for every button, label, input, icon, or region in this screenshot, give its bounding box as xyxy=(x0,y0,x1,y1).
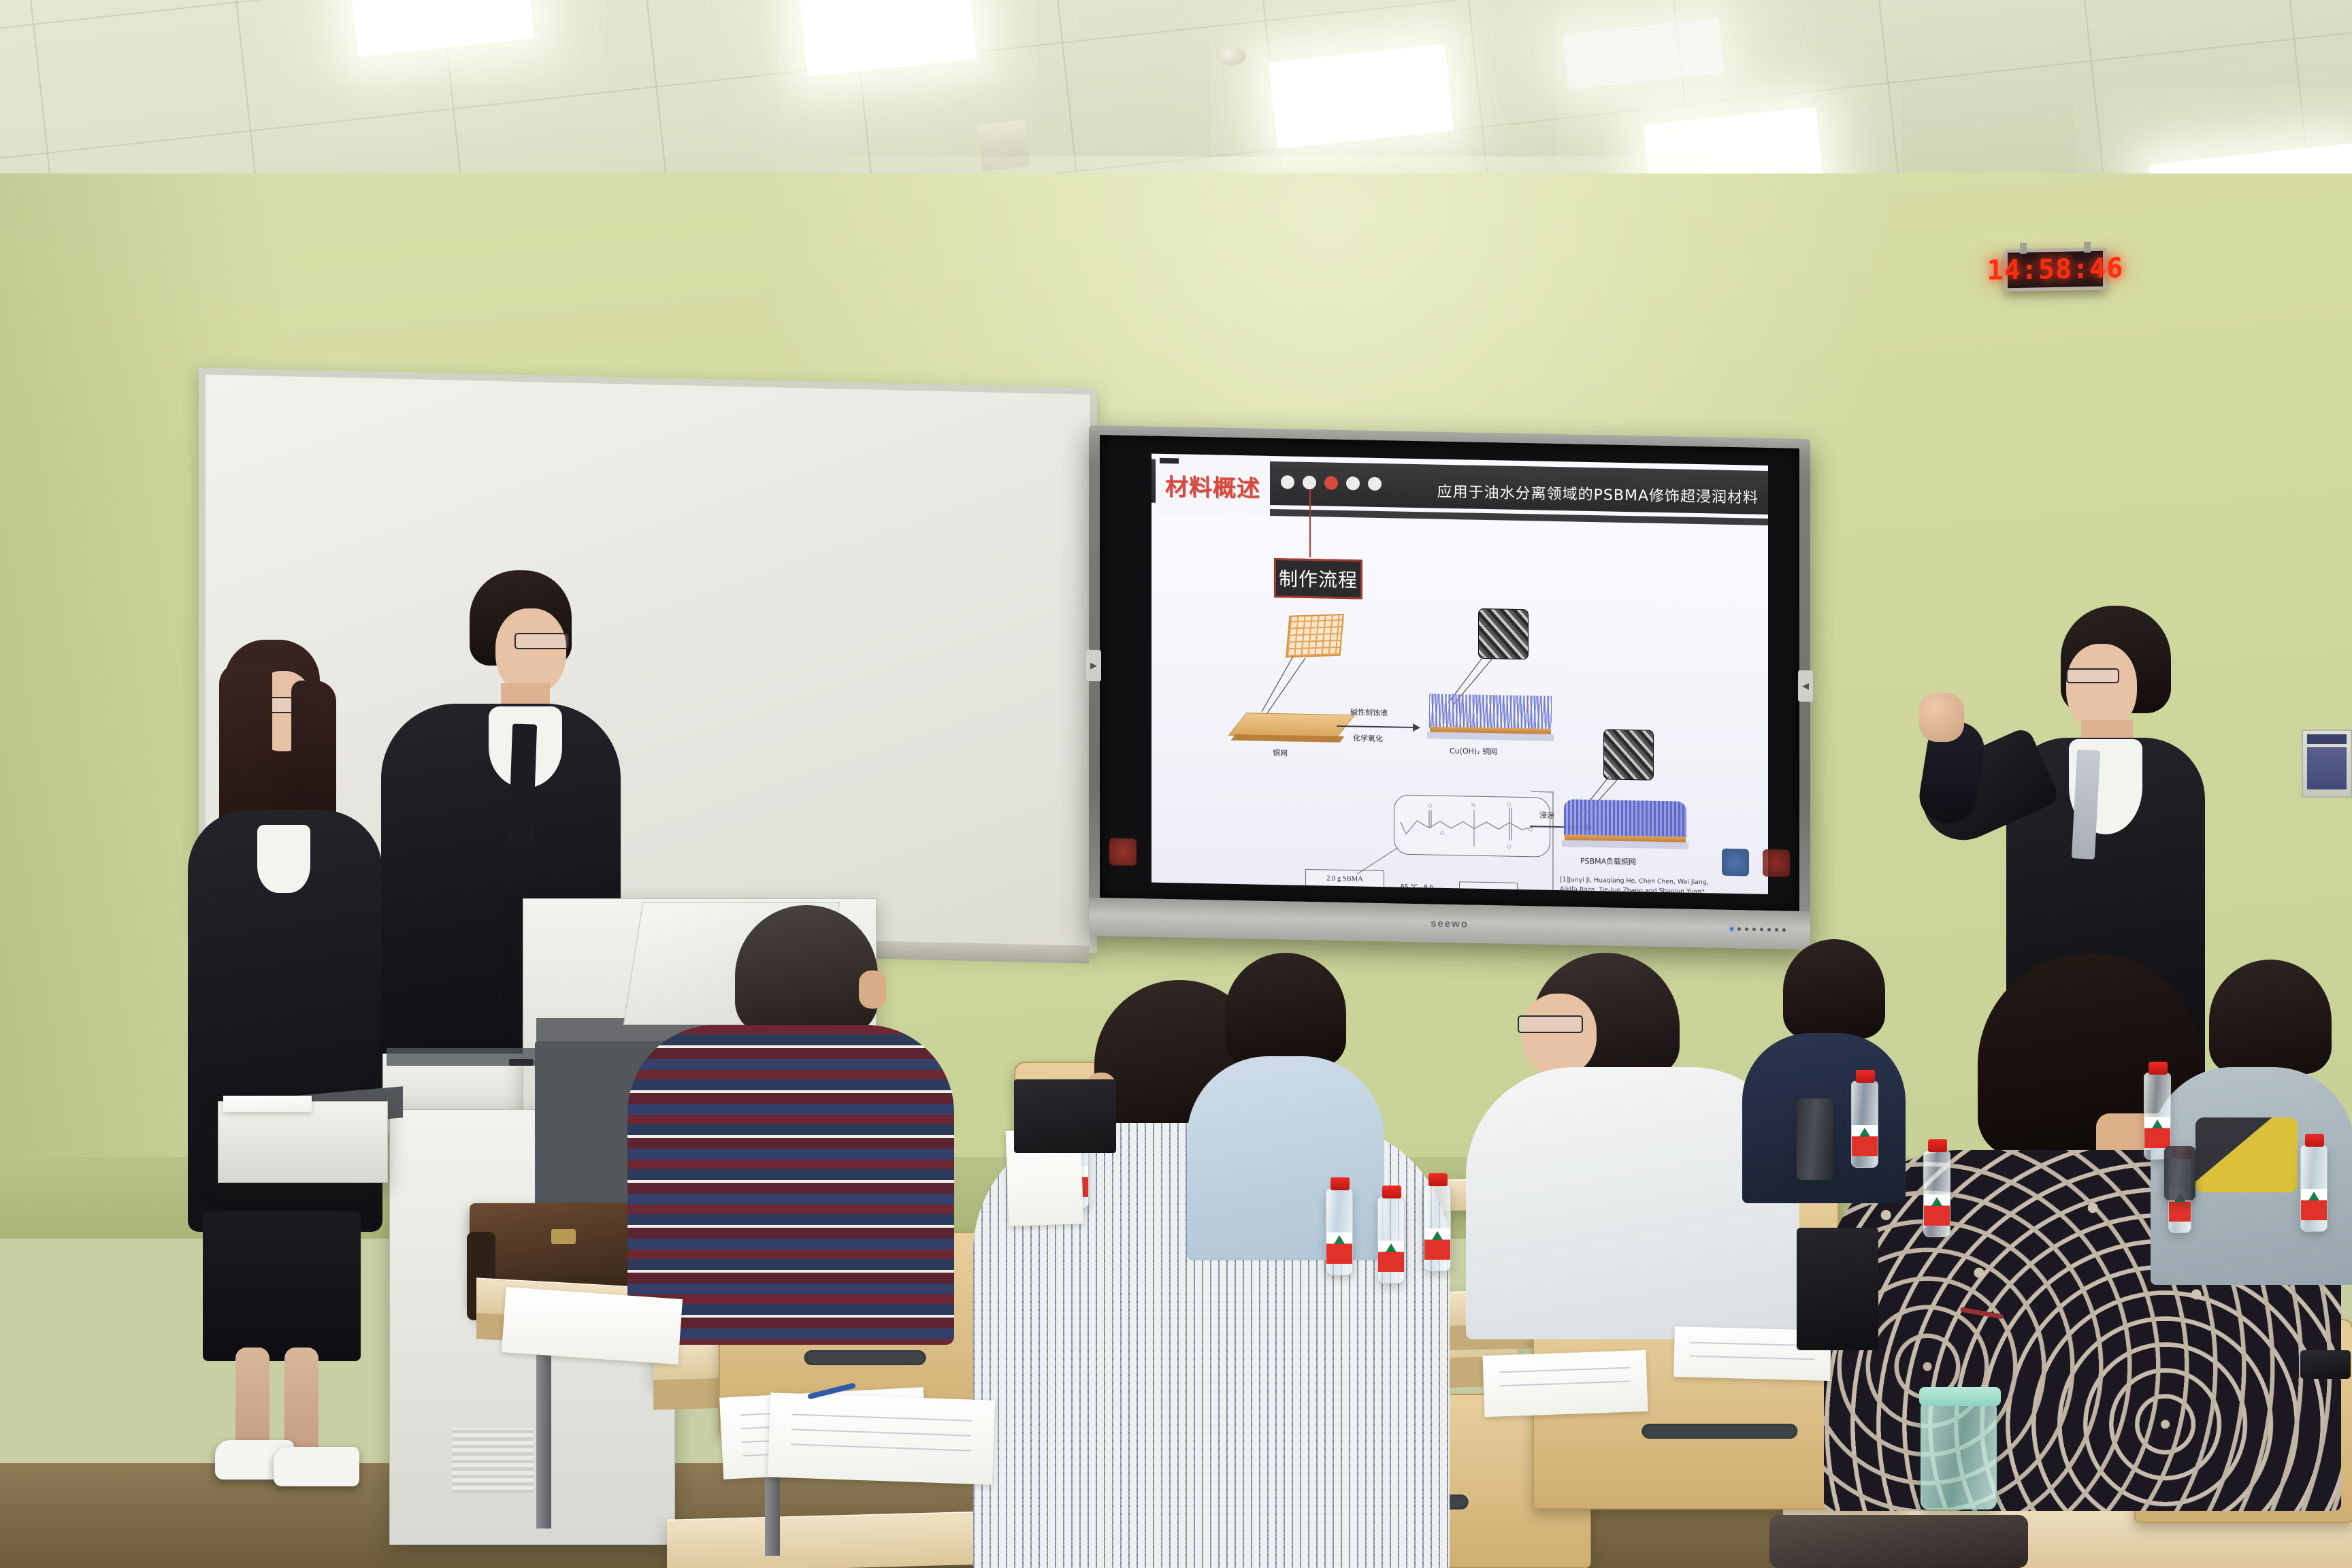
paper-line xyxy=(791,1443,971,1451)
diagram-label-step3: PSBMA负载铜网 xyxy=(1580,855,1636,868)
presenter-male-center-tie xyxy=(508,723,537,847)
audience-striped-hair xyxy=(735,905,878,1034)
desk-leg-front xyxy=(536,1352,551,1529)
bottle-cap-icon xyxy=(1428,1173,1448,1186)
presenter-female-shirt xyxy=(257,825,310,893)
dark-bag-bottom-right xyxy=(1769,1515,2028,1568)
presentation-slide: 材料概述 应用于油水分离领域的PSBMA修饰超浸润材料 制作流程 xyxy=(1151,454,1768,894)
audience-striped-ear xyxy=(859,970,886,1009)
audience-striped-shirt xyxy=(612,905,966,1341)
bottle-tree-logo-icon xyxy=(1931,1197,1942,1206)
sem-image-icon-2 xyxy=(1603,729,1654,780)
black-thermos[interactable] xyxy=(1797,1098,1833,1180)
water-bottle-4[interactable] xyxy=(1377,1196,1405,1284)
presenter-male-center-glasses xyxy=(514,633,569,649)
progress-dot-4 xyxy=(1346,476,1360,490)
cu-oh2-nanostructure xyxy=(1429,693,1552,730)
sem-image-icon-1 xyxy=(1478,608,1529,659)
product-routing-line xyxy=(1516,790,1557,893)
podium-side-column xyxy=(218,1101,388,1183)
led-8 xyxy=(1782,928,1786,932)
psbma-brush-layer xyxy=(1564,799,1686,838)
smartboard-right-nav-button[interactable]: ◀ xyxy=(1798,670,1813,702)
svg-text:O: O xyxy=(1440,830,1444,836)
smartboard-ir-sensor-icon xyxy=(1763,849,1790,877)
slide-title-box: 材料概述 xyxy=(1156,454,1270,517)
bottle-label xyxy=(2301,1189,2327,1220)
led-3 xyxy=(1745,928,1748,931)
audience-lightblue-hair xyxy=(1225,953,1346,1067)
slide-title-notch xyxy=(1160,458,1179,464)
podium-left-surface xyxy=(387,1048,585,1066)
bottle-tree-logo-icon xyxy=(1859,1128,1870,1137)
diagram-label-step1: 铜网 xyxy=(1273,747,1288,758)
slide-progress-dots xyxy=(1281,475,1382,491)
svg-text:O: O xyxy=(1428,802,1432,808)
audience-white-shirt-face xyxy=(1522,994,1597,1075)
audience-lightblue-torso xyxy=(1187,1056,1384,1260)
slide-title: 材料概述 xyxy=(1165,468,1260,503)
cup-lid-icon xyxy=(1919,1387,2001,1406)
bottle-cap-icon xyxy=(2305,1134,2324,1147)
bottle-label xyxy=(2144,1117,2170,1148)
bottle-label xyxy=(1852,1125,1878,1156)
bottle-tree-logo-icon xyxy=(1334,1235,1345,1244)
reagent-item-2: 0.02 g AIBN xyxy=(1307,883,1383,894)
black-thermos-2[interactable] xyxy=(2164,1146,2195,1200)
audience-navy-hair xyxy=(1783,939,1885,1039)
smartboard-left-nav-button[interactable]: ▶ xyxy=(1086,650,1101,681)
bottle-tree-logo-icon xyxy=(2308,1192,2319,1200)
slide-section-label: 制作流程 xyxy=(1279,564,1358,593)
presenter-male-right-glasses xyxy=(2066,668,2119,683)
laptop-dark-panel[interactable] xyxy=(1014,1079,1116,1153)
bottle-tree-logo-icon xyxy=(2152,1120,2163,1128)
clock-bracket-right xyxy=(2084,242,2091,252)
chevron-left-icon: ◀ xyxy=(1802,681,1809,691)
bottle-label xyxy=(1378,1241,1404,1272)
chair-handle-slot xyxy=(804,1350,926,1365)
digital-wall-clock: 14:58:46 xyxy=(2004,248,2106,292)
bottle-label xyxy=(1326,1232,1352,1264)
presenter-male-right-face xyxy=(2066,644,2137,731)
phone-on-desk[interactable] xyxy=(2300,1350,2351,1379)
slide-section-box: 制作流程 xyxy=(1274,558,1362,599)
classroom-scene: 14:58:46 材料概述 xyxy=(0,0,2352,1568)
handout-paper-2[interactable] xyxy=(768,1392,995,1484)
diagram-arrow1-top-label: 碱性刻蚀液 xyxy=(1350,706,1388,718)
led-2 xyxy=(1737,928,1741,931)
clock-time-display: 14:58:46 xyxy=(1987,252,2124,287)
product-concentration: 0.04875 g/ml xyxy=(1460,887,1516,894)
reaction-condition-label: 65 °C，8 h xyxy=(1401,882,1433,892)
svg-text:O: O xyxy=(1507,844,1511,850)
smartboard-display[interactable]: 材料概述 应用于油水分离领域的PSBMA修饰超浸润材料 制作流程 xyxy=(1100,435,1799,911)
audience-light-blue-shirt xyxy=(1171,953,1388,1239)
briefcase-buckle-icon xyxy=(551,1229,576,1244)
reference-list: [1]Junyi Ji, Huaqiang He, Chen Chen, Wei… xyxy=(1560,875,1720,894)
led-5 xyxy=(1760,928,1763,931)
progress-dot-5 xyxy=(1368,477,1382,491)
smartboard-brand-logo: seewo xyxy=(1431,917,1469,930)
bottle-tree-logo-icon xyxy=(1386,1243,1396,1252)
bottle-cap-icon xyxy=(2149,1062,2168,1075)
chair-handle-slot xyxy=(1641,1424,1797,1439)
progress-dot-connector xyxy=(1309,489,1311,557)
audience-gray-tshirt-hair xyxy=(2209,960,2332,1074)
diagram-arrow-1 xyxy=(1337,725,1420,728)
water-bottle-9[interactable] xyxy=(2300,1145,2327,1232)
paper-line xyxy=(1499,1367,1630,1373)
copper-mesh-plate-edge xyxy=(1230,734,1344,742)
bottle-tree-logo-icon xyxy=(1432,1231,1443,1240)
water-bottle-7[interactable] xyxy=(1923,1150,1950,1237)
smartboard-home-icon[interactable] xyxy=(1722,849,1749,877)
svg-text:N: N xyxy=(1471,802,1475,808)
progress-dot-3-active xyxy=(1324,476,1338,489)
black-box-on-desk xyxy=(1797,1228,1878,1350)
podium-marker-1[interactable] xyxy=(509,1059,534,1066)
water-bottle-3[interactable] xyxy=(1326,1188,1353,1275)
paper-line xyxy=(1690,1356,1815,1360)
diagram-arrow2-label: 浸涂 xyxy=(1539,810,1554,821)
led-7 xyxy=(1775,928,1778,932)
progress-dot-1 xyxy=(1281,475,1294,489)
paper-line xyxy=(792,1414,972,1421)
smoke-detector-icon xyxy=(1218,48,1245,65)
bottle-cap-icon xyxy=(1382,1186,1401,1198)
smartboard-power-icon[interactable] xyxy=(1109,838,1137,866)
handout-paper-5[interactable] xyxy=(502,1287,683,1365)
led-4 xyxy=(1752,928,1756,931)
presenter-male-center-face xyxy=(495,608,566,694)
bottle-cap-icon xyxy=(1928,1139,1947,1152)
mesh-callout-lines xyxy=(1254,653,1328,722)
led-1 xyxy=(1730,927,1733,930)
gray-tshirt-graphic-icon xyxy=(2195,1117,2298,1192)
water-bottle-6[interactable] xyxy=(1851,1081,1878,1168)
wall-mounted-panel xyxy=(2302,730,2352,798)
bottle-label xyxy=(1924,1194,1950,1226)
bottle-cap-icon xyxy=(1330,1177,1350,1190)
paper-line xyxy=(1500,1381,1631,1387)
handout-paper-3[interactable] xyxy=(1483,1350,1648,1417)
product-label: 0.04875 g/ml PSBMA sol xyxy=(1460,887,1516,894)
desk-bottom-left xyxy=(667,1510,1021,1568)
wall-panel-header xyxy=(2307,734,2347,744)
progress-dot-2 xyxy=(1303,476,1316,489)
presenter-female-left xyxy=(170,640,388,1497)
clock-bracket-left xyxy=(2020,243,2027,254)
paper-line xyxy=(791,1428,971,1436)
podium-vent xyxy=(452,1428,534,1493)
ceiling-light-2 xyxy=(1269,44,1454,149)
audience-white-shirt-glasses-icon xyxy=(1518,1015,1583,1033)
presenter-female-skirt xyxy=(203,1211,361,1361)
bottle-label xyxy=(1424,1228,1450,1260)
diagram-arrow1-bottom-label: 化学氧化 xyxy=(1353,732,1383,744)
presenter-male-right-fist xyxy=(1919,693,1964,742)
svg-text:O: O xyxy=(1507,802,1511,808)
water-bottle-5[interactable] xyxy=(1424,1184,1451,1271)
audience-striped-torso xyxy=(627,1025,954,1345)
podium-handout-stack[interactable] xyxy=(223,1096,312,1112)
chevron-right-icon: ▶ xyxy=(1090,660,1097,671)
mint-green-water-cup[interactable] xyxy=(1921,1401,1997,1509)
smartboard-led-indicators xyxy=(1730,927,1786,932)
copper-mesh-zoom-icon xyxy=(1286,614,1344,657)
interactive-smartboard[interactable]: 材料概述 应用于油水分离领域的PSBMA修饰超浸润材料 制作流程 xyxy=(1089,425,1810,949)
reagent-item-3: 10 ml DI water xyxy=(1307,894,1383,894)
bottle-cap-icon xyxy=(1856,1070,1875,1083)
presenter-female-shoe-right xyxy=(274,1447,359,1486)
wall-panel-body xyxy=(2307,747,2347,789)
reagent-callout-line xyxy=(1356,845,1403,877)
diagram-label-step2: Cu(OH)₂ 铜网 xyxy=(1450,745,1497,757)
led-6 xyxy=(1767,928,1771,931)
